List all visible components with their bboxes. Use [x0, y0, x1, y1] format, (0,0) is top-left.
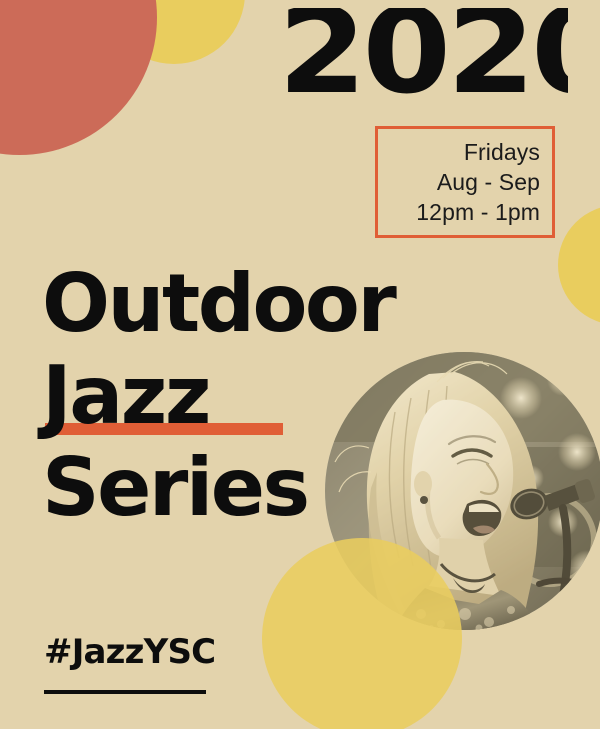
- poster-title: Outdoor Jazz Series: [42, 258, 394, 534]
- year-headline: 2020: [278, 8, 568, 120]
- date-line-time: 12pm - 1pm: [416, 197, 540, 227]
- poster-canvas: 2020 Fridays Aug - Sep 12pm - 1pm: [0, 0, 600, 729]
- date-line-day: Fridays: [464, 137, 540, 167]
- title-line-outdoor: Outdoor: [42, 258, 394, 350]
- year-text: 2020: [278, 8, 568, 110]
- date-info-box: Fridays Aug - Sep 12pm - 1pm: [375, 126, 555, 238]
- hashtag-rule-divider: [44, 690, 206, 694]
- hashtag-text: #JazzYSC: [44, 632, 215, 672]
- title-line-series: Series: [42, 442, 394, 534]
- coral-circle-decoration: [0, 0, 157, 155]
- date-line-months: Aug - Sep: [437, 167, 540, 197]
- yellow-circle-right-decoration: [558, 205, 600, 325]
- yellow-circle-top-decoration: [103, 0, 245, 64]
- hashtag-block: #JazzYSC: [44, 632, 215, 694]
- title-line-jazz: Jazz: [42, 350, 209, 442]
